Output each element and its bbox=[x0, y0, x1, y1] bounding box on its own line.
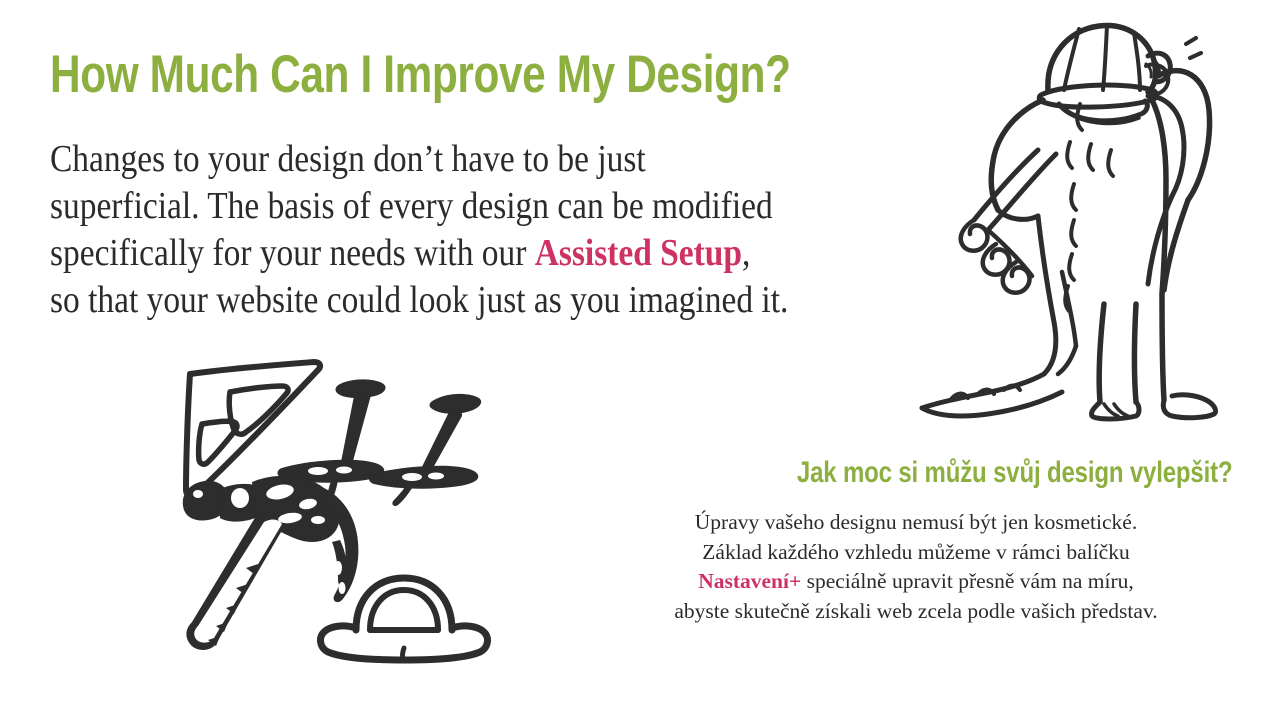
text-run: superficial. The basis of every design c… bbox=[50, 185, 773, 227]
english-paragraph-line: specifically for your needs with our Ass… bbox=[50, 230, 912, 277]
czech-heading: Jak moc si můžu svůj design vylepšit? bbox=[608, 455, 1232, 491]
text-run: Úpravy vašeho designu nemusí být jen kos… bbox=[695, 510, 1137, 534]
english-paragraph: Changes to your design don’t have to be … bbox=[50, 136, 912, 324]
czech-paragraph-line: Nastavení+ speciálně upravit přesně vám … bbox=[600, 567, 1232, 597]
english-paragraph-line: Changes to your design don’t have to be … bbox=[50, 136, 912, 183]
czech-paragraph: Úpravy vašeho designu nemusí být jen kos… bbox=[600, 508, 1232, 626]
assisted-setup-highlight: Assisted Setup bbox=[535, 232, 742, 274]
text-run: Základ každého vzhledu můžeme v rámci ba… bbox=[702, 540, 1129, 564]
tools-illustration bbox=[172, 352, 496, 668]
czech-paragraph-line: Základ každého vzhledu můžeme v rámci ba… bbox=[600, 538, 1232, 568]
text-run: speciálně upravit přesně vám na míru, bbox=[801, 569, 1134, 593]
text-run: abyste skutečně získali web zcela podle … bbox=[674, 599, 1157, 623]
text-run: specifically for your needs with our bbox=[50, 232, 535, 274]
worker-with-blueprints-illustration bbox=[896, 4, 1268, 428]
czech-paragraph-line: abyste skutečně získali web zcela podle … bbox=[600, 597, 1232, 627]
english-paragraph-line: so that your website could look just as … bbox=[50, 277, 912, 324]
czech-heading-text: Jak moc si můžu svůj design vylepšit? bbox=[796, 455, 1232, 491]
czech-paragraph-line: Úpravy vašeho designu nemusí být jen kos… bbox=[600, 508, 1232, 538]
english-paragraph-line: superficial. The basis of every design c… bbox=[50, 183, 912, 230]
text-run: so that your website could look just as … bbox=[50, 279, 788, 321]
nastaveni-plus-highlight: Nastavení+ bbox=[698, 569, 801, 593]
text-run: , bbox=[742, 232, 750, 274]
slide-canvas: How Much Can I Improve My Design? Change… bbox=[0, 0, 1280, 720]
text-run: Changes to your design don’t have to be … bbox=[50, 138, 646, 180]
english-heading: How Much Can I Improve My Design? bbox=[50, 46, 738, 104]
